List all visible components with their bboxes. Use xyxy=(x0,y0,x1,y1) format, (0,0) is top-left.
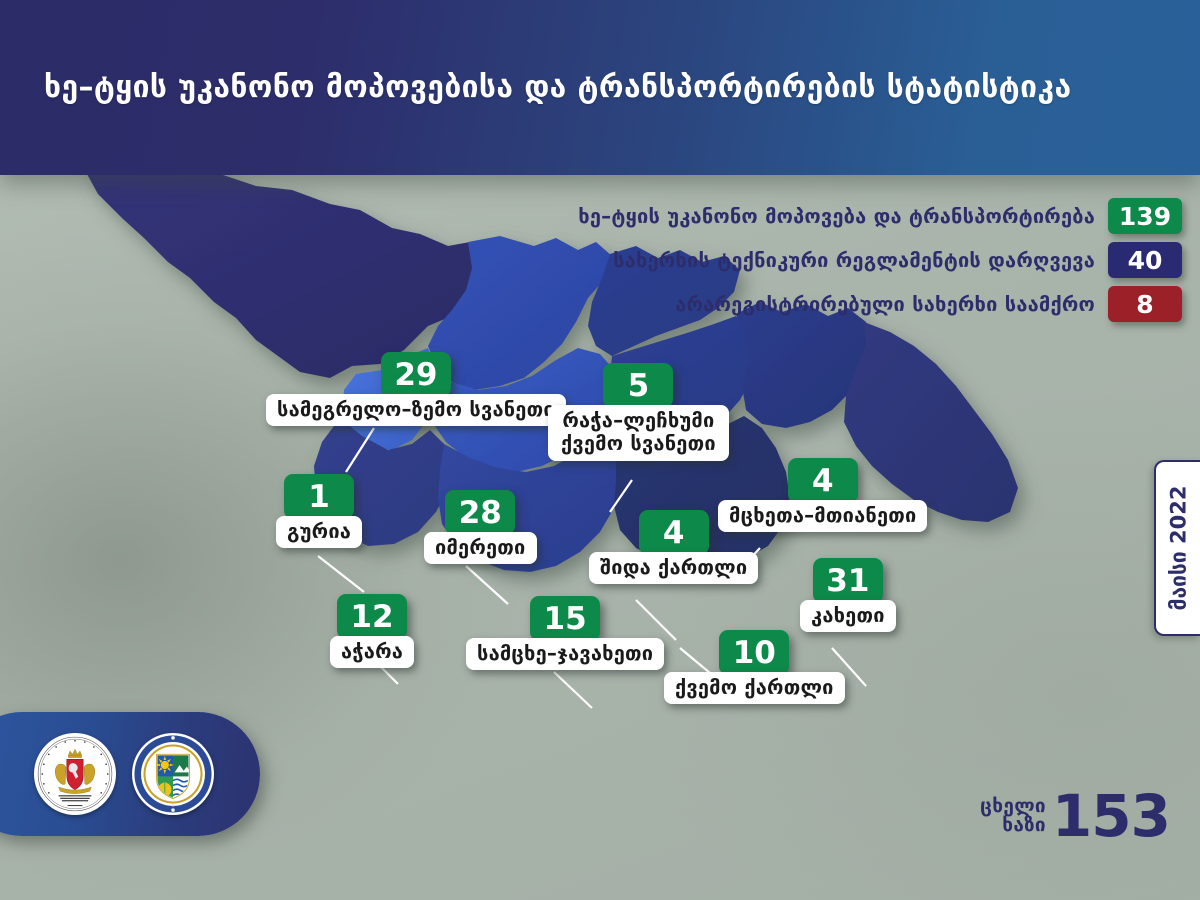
hotline: ცხელი ხაზი 153 xyxy=(980,791,1170,842)
region-label: სამცხე–ჯავახეთი xyxy=(466,638,664,670)
value-badge: 31 xyxy=(813,558,883,603)
value-badge: 1 xyxy=(284,474,354,519)
region-label: აჭარა xyxy=(330,636,414,668)
callout-adjara[interactable]: 12 აჭარა xyxy=(330,594,414,668)
region-label-line1: რაჭა–ლეჩხუმი xyxy=(562,408,714,432)
callout-guria[interactable]: 1 გურია xyxy=(276,474,362,548)
date-tab: მაისი 2022 xyxy=(1154,460,1200,636)
hotline-number: 153 xyxy=(1052,791,1170,842)
region-label: რაჭა–ლეჩხუმი ქვემო სვანეთი xyxy=(548,405,729,461)
value-badge: 5 xyxy=(603,363,673,408)
value-badge: 4 xyxy=(788,458,858,503)
legend-item-illegal-logging[interactable]: ხე–ტყის უკანონო მოპოვება და ტრანსპორტირე… xyxy=(578,198,1182,234)
header-banner: ხე–ტყის უკანონო მოპოვებისა და ტრანსპორტი… xyxy=(0,0,1200,175)
legend-badge-green: 139 xyxy=(1108,198,1182,234)
date-label: მაისი 2022 xyxy=(1166,486,1190,611)
ministry-of-environmental-protection-and-agriculture-emblem xyxy=(34,733,116,815)
region-label: სამეგრელო–ზემო სვანეთი xyxy=(266,394,566,426)
value-badge: 29 xyxy=(381,352,451,397)
legend-item-unregistered-sawmill[interactable]: არარეგისტრირებული სახერხი საამქრო 8 xyxy=(675,286,1182,322)
region-label: იმერეთი xyxy=(424,532,537,564)
legend-label: არარეგისტრირებული სახერხი საამქრო xyxy=(675,292,1095,316)
hotline-line2: ხაზი xyxy=(980,816,1046,835)
callout-samtskhe-javakheti[interactable]: 15 სამცხე–ჯავახეთი xyxy=(466,596,664,670)
legend-badge-red: 8 xyxy=(1108,286,1182,322)
page-title: ხე–ტყის უკანონო მოპოვებისა და ტრანსპორტი… xyxy=(0,70,1071,105)
callout-imereti[interactable]: 28 იმერეთი xyxy=(424,490,537,564)
region-label: კახეთი xyxy=(800,600,896,632)
region-label: გურია xyxy=(276,516,362,548)
hotline-words: ცხელი ხაზი xyxy=(980,797,1046,836)
callout-racha-lechkhumi-kvemo-svaneti[interactable]: 5 რაჭა–ლეჩხუმი ქვემო სვანეთი xyxy=(548,363,729,461)
legend-label: ხე–ტყის უკანონო მოპოვება და ტრანსპორტირე… xyxy=(578,204,1095,228)
callout-kakheti[interactable]: 31 კახეთი xyxy=(800,558,896,632)
callout-shida-kartli[interactable]: 4 შიდა ქართლი xyxy=(589,510,758,584)
environmental-supervision-department-emblem xyxy=(132,733,214,815)
legend-badge-navy: 40 xyxy=(1108,242,1182,278)
logo-bar xyxy=(0,712,260,836)
value-badge: 15 xyxy=(530,596,600,641)
infographic-canvas: ხე–ტყის უკანონო მოპოვებისა და ტრანსპორტი… xyxy=(0,0,1200,900)
value-badge: 28 xyxy=(445,490,515,535)
region-label: ქვემო ქართლი xyxy=(664,672,845,704)
callout-samegrelo-zemo-svaneti[interactable]: 29 სამეგრელო–ზემო სვანეთი xyxy=(266,352,566,426)
callout-kvemo-kartli[interactable]: 10 ქვემო ქართლი xyxy=(664,630,845,704)
value-badge: 12 xyxy=(337,594,407,639)
region-label: შიდა ქართლი xyxy=(589,552,758,584)
region-label-line2: ქვემო სვანეთი xyxy=(561,431,716,455)
legend-item-sawmill-regulation-violation[interactable]: სახერხის ტექნიკური რეგლამენტის დარღვევა … xyxy=(613,242,1182,278)
legend-label: სახერხის ტექნიკური რეგლამენტის დარღვევა xyxy=(613,248,1095,272)
value-badge: 4 xyxy=(639,510,709,555)
legend: ხე–ტყის უკანონო მოპოვება და ტრანსპორტირე… xyxy=(578,198,1182,322)
value-badge: 10 xyxy=(719,630,789,675)
